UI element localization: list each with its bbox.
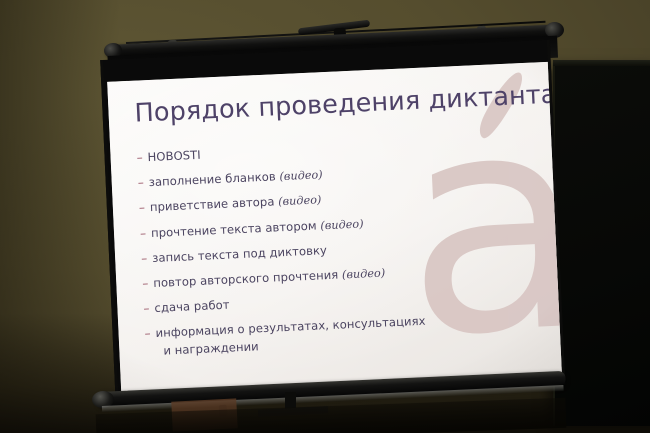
presentation-slide: a Порядок проведения диктанта –НОВОSТI–з… — [107, 62, 565, 402]
bullet-note: (видео) — [320, 217, 364, 232]
projection-screen-assembly: a Порядок проведения диктанта –НОВОSТI–з… — [104, 22, 564, 412]
bullet-text: НОВОSТI — [147, 148, 201, 166]
bullet-dash-icon: – — [136, 150, 143, 166]
projection-surface-frame: a Порядок проведения диктанта –НОВОSТI–з… — [100, 40, 565, 405]
bullet-dash-icon: – — [143, 302, 150, 318]
bullet-dash-icon: – — [144, 327, 151, 343]
bullet-dash-icon: – — [137, 175, 144, 191]
slide-bullet-list: –НОВОSТI–заполнение бланков (видео)–прив… — [136, 132, 545, 359]
bullet-text-continuation: и награждении — [156, 331, 427, 359]
bullet-note: (видео) — [278, 194, 322, 209]
bullet-dash-icon: – — [139, 201, 146, 217]
bullet-text: заполнение бланков (видео) — [148, 167, 323, 191]
bullet-text: запись текста под диктовку — [152, 243, 327, 266]
room-scene: a Порядок проведения диктанта –НОВОSТI–з… — [0, 0, 650, 433]
bullet-note: (видео) — [279, 168, 323, 183]
bullet-text: сдача работ — [154, 298, 230, 317]
bullet-note: (видео) — [342, 267, 386, 282]
bullet-text: приветствие автора (видео) — [150, 193, 322, 217]
bullet-text: прочтение текста автором (видео) — [151, 216, 364, 241]
bullet-dash-icon: – — [140, 226, 147, 242]
dark-display-panel — [553, 66, 650, 426]
bullet-text: информация о результатах, консультацияхи… — [155, 314, 426, 359]
bullet-dash-icon: – — [142, 276, 149, 292]
bullet-dash-icon: – — [141, 251, 148, 267]
projection-surface: a Порядок проведения диктанта –НОВОSТI–з… — [107, 62, 565, 402]
bullet-text: повтор авторского прочтения (видео) — [153, 266, 386, 292]
